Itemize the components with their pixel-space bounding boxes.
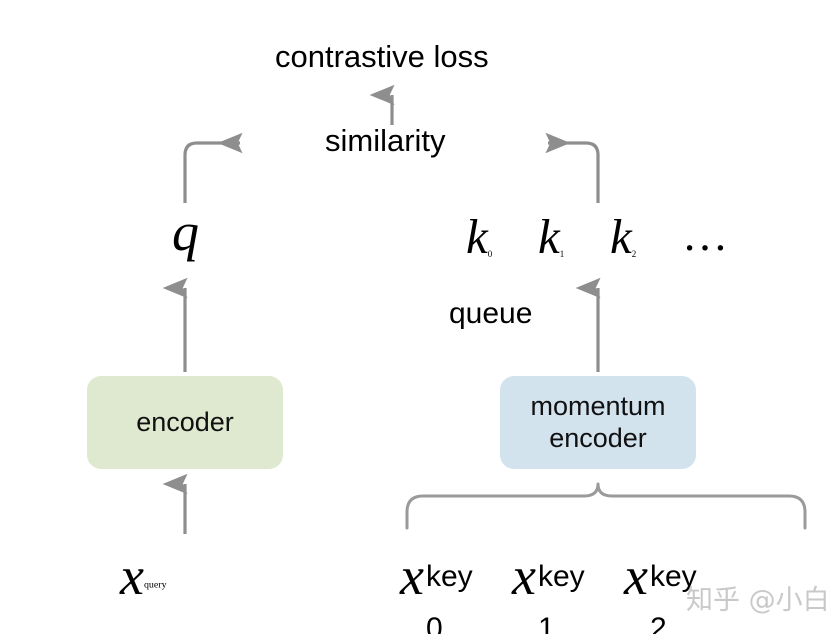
key-symbol-1: k1 (538, 208, 564, 265)
keys-ellipsis: … (682, 212, 728, 258)
input-x-key-2: x key 2 (624, 545, 648, 607)
key-symbol-2-subscript: 2 (632, 249, 636, 259)
input-x-query-base: x (120, 546, 144, 606)
input-x-key-1: x key 1 (512, 545, 536, 607)
arrow-keys-to-similarity (548, 143, 598, 203)
key-symbol-1-base: k (538, 209, 560, 264)
key-symbol-1-subscript: 1 (560, 249, 564, 259)
input-x-key-2-subscript: 2 (650, 612, 667, 634)
momentum-encoder-line-1: momentum (530, 391, 665, 421)
diagram-canvas: contrastive loss similarity q k0 k1 k2 …… (0, 0, 826, 634)
input-x-key-0-base: x (400, 546, 424, 606)
key-symbol-2-base: k (610, 209, 632, 264)
similarity-label: similarity (325, 125, 446, 156)
key-symbol-0-base: k (466, 209, 488, 264)
connector-layer (0, 0, 826, 634)
key-symbol-0-subscript: 0 (488, 249, 492, 259)
queue-label: queue (449, 299, 532, 329)
q-symbol: q (172, 205, 199, 259)
encoder-box-label: encoder (136, 407, 234, 439)
input-x-key-1-superscript: key (538, 560, 585, 594)
input-x-query: xquery (120, 545, 167, 607)
input-x-key-0-superscript: key (426, 560, 473, 594)
input-x-key-1-base: x (512, 546, 536, 606)
momentum-encoder-box[interactable]: momentum encoder (500, 376, 696, 469)
momentum-encoder-box-label: momentum encoder (530, 391, 665, 455)
arrow-q-to-similarity (185, 143, 240, 203)
momentum-encoder-line-2: encoder (549, 423, 647, 453)
input-x-query-superscript: query (144, 580, 167, 591)
input-x-key-0: x key 0 (400, 545, 424, 607)
input-x-key-0-subscript: 0 (426, 612, 443, 634)
encoder-box[interactable]: encoder (87, 376, 283, 469)
contrastive-loss-label: contrastive loss (275, 41, 489, 72)
key-symbol-2: k2 (610, 208, 636, 265)
key-symbol-0: k0 (466, 208, 492, 265)
key-inputs-brace (407, 484, 805, 528)
input-x-key-1-subscript: 1 (538, 612, 555, 634)
zhihu-watermark: 知乎 @小白 (686, 578, 826, 617)
input-x-key-2-base: x (624, 546, 648, 606)
